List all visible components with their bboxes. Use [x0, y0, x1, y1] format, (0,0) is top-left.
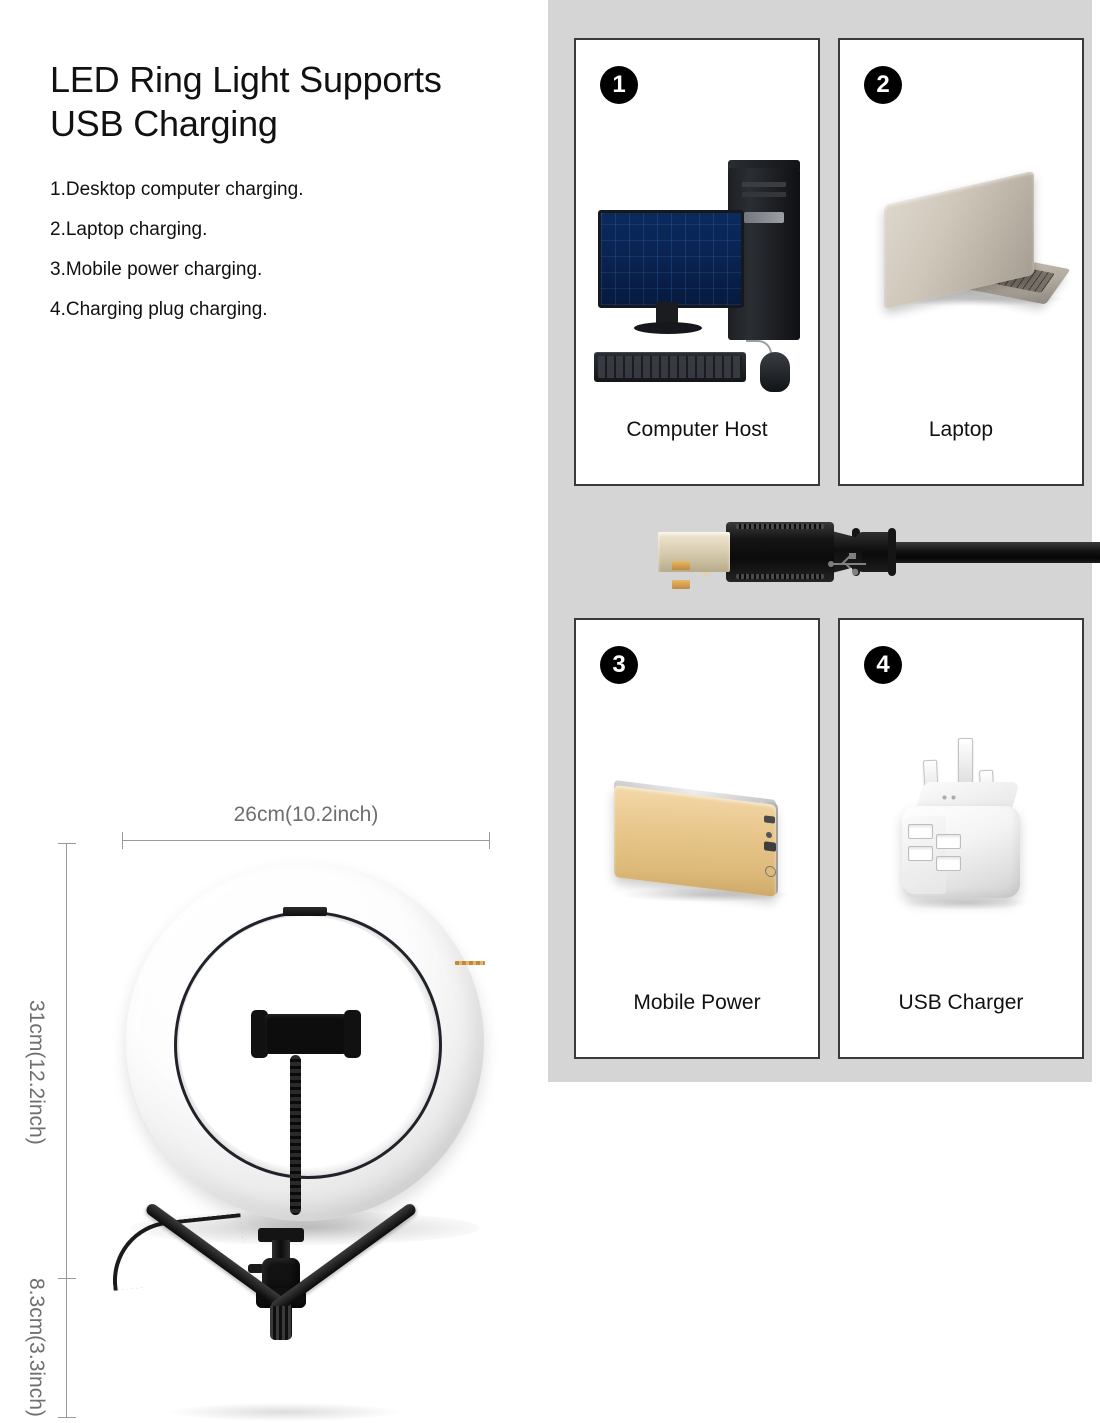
power-bank-micro-usb-port: [764, 815, 775, 823]
charger-usb-port-1: [908, 824, 933, 839]
card-label: Computer Host: [576, 418, 818, 442]
connector-pins: [455, 961, 485, 965]
height-dimension-line: [66, 843, 67, 1417]
charger-shadow: [904, 896, 1028, 910]
card-label: Mobile Power: [576, 991, 818, 1015]
monitor-stand: [656, 302, 678, 324]
gooseneck-arm: [290, 1055, 301, 1215]
monitor: [598, 210, 744, 308]
usb-trident-logo: [826, 552, 872, 576]
ferrite-ring-right: [888, 528, 896, 576]
charger-usb-port-2: [908, 846, 933, 861]
ring-light-top-connector: [283, 907, 327, 916]
keyboard: [594, 352, 746, 382]
usb-cable: [892, 542, 1100, 563]
device-card-usb-charger[interactable]: 4 USB Charger: [838, 618, 1084, 1059]
card-label: USB Charger: [840, 991, 1082, 1015]
list-item: 1.Desktop computer charging.: [50, 180, 500, 199]
ce-mark-icon: [938, 792, 960, 803]
device-card-computer-host[interactable]: 1 Computer Host: [574, 38, 820, 486]
phone-holder-grip-right: [344, 1010, 361, 1058]
tower-drive-bay: [742, 182, 786, 187]
power-bank-button: [765, 865, 776, 877]
tripod-shadow: [170, 1403, 400, 1421]
phone-holder-body: [265, 1014, 347, 1054]
width-dimension-cap-left: [122, 832, 123, 849]
height-dimension-cap-mid: [58, 1278, 76, 1279]
tower-drive-bay-2: [742, 192, 786, 197]
power-bank-body: [614, 785, 776, 897]
page-title: LED Ring Light Supports USB Charging: [50, 58, 510, 146]
product-illustration: 26cm(10.2inch) 31cm(12.2inch) 8.3cm(3.3i…: [0, 400, 548, 1080]
device-card-mobile-power[interactable]: 3 Mobile Power: [574, 618, 820, 1059]
monitor-base: [634, 322, 702, 334]
power-bank-usb-port: [764, 841, 776, 851]
height-dimension-cap-bottom: [58, 1417, 76, 1418]
usb-grip-bottom: [736, 574, 824, 579]
mouse: [760, 352, 790, 392]
usb-contact-pad-2: [672, 580, 690, 589]
feature-list: 1.Desktop computer charging. 2.Laptop ch…: [50, 180, 500, 340]
usb-shell-notch: [702, 572, 710, 577]
usb-housing: [726, 522, 834, 582]
power-bank-led: [766, 832, 772, 839]
device-card-laptop[interactable]: 2 Laptop: [838, 38, 1084, 486]
usb-a-connector: [658, 510, 1092, 594]
tripod-stand: [180, 1228, 380, 1423]
phone-holder: [251, 1010, 361, 1058]
left-column: LED Ring Light Supports USB Charging 1.D…: [0, 0, 548, 1100]
keyboard-keys: [598, 356, 742, 378]
charger-usb-port-4: [936, 856, 961, 871]
usb-metal-shell: [658, 532, 730, 572]
monitor-screen: [601, 213, 741, 305]
tower-brand-logo: [744, 212, 784, 223]
charger-usb-port-3: [936, 834, 961, 849]
height-dimension-label: 31cm(12.2inch): [24, 1000, 48, 1145]
width-dimension-cap-right: [489, 832, 490, 849]
ring-light: [118, 855, 493, 1245]
card-label: Laptop: [840, 418, 1082, 442]
list-item: 3.Mobile power charging.: [50, 260, 500, 279]
height-dimension-cap-top: [58, 843, 76, 844]
usb-grip-top: [736, 524, 824, 529]
base-height-dimension-label: 8.3cm(3.3inch): [24, 1278, 48, 1417]
charger-earth-pin: [958, 738, 973, 788]
tripod-center-leg: [270, 1306, 292, 1340]
width-dimension-line: [122, 840, 490, 841]
compatible-devices-panel: 1 Computer Host 2: [548, 0, 1092, 1082]
list-item: 2.Laptop charging.: [50, 220, 500, 239]
usb-contact-pad-1: [672, 561, 690, 570]
width-dimension-label: 26cm(10.2inch): [122, 803, 490, 827]
list-item: 4.Charging plug charging.: [50, 300, 500, 319]
